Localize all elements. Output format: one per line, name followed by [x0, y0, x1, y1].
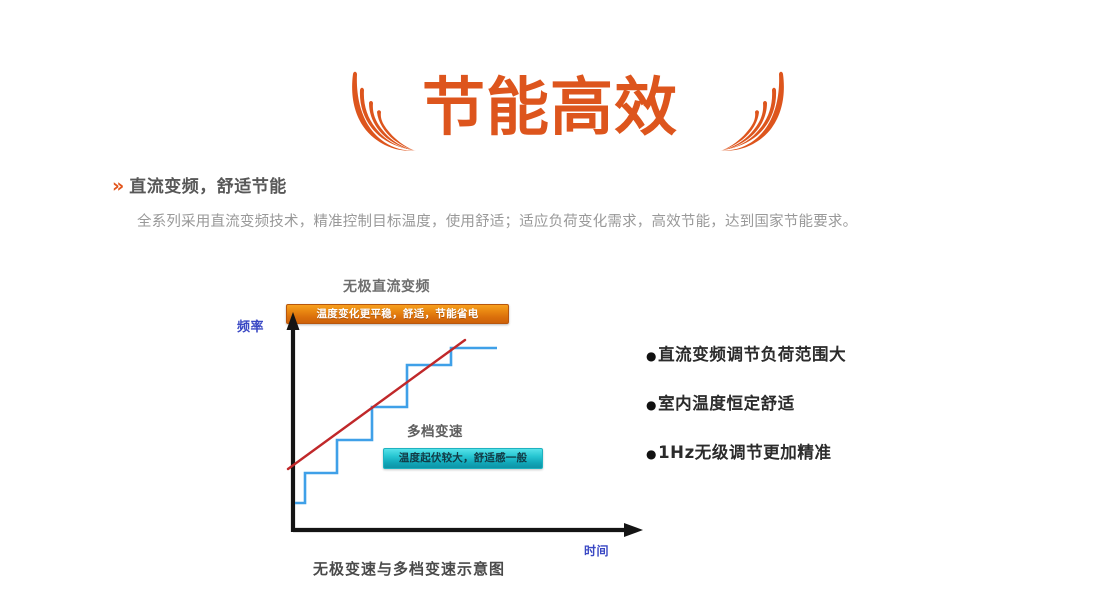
series-stepped-multi-gear: [295, 348, 497, 503]
bullet-icon: ●: [646, 345, 657, 367]
double-chevron-right-icon: »: [112, 176, 122, 197]
list-item: ● 直流变频调节负荷范围大: [646, 344, 986, 367]
bullet-icon: ●: [646, 443, 657, 465]
list-item: ● 室内温度恒定舒适: [646, 393, 986, 416]
x-axis: [293, 523, 643, 537]
section-heading: 直流变频，舒适节能: [129, 177, 287, 198]
feature-label: 室内温度恒定舒适: [658, 393, 795, 415]
bullet-icon: ●: [646, 394, 657, 416]
chart-diagram: 无极直流变频 温度变化更平稳，舒适，节能省电 频率 时间 多档变速 温度起伏较大…: [225, 268, 665, 578]
feature-label: 1Hz无级调节更加精准: [658, 442, 832, 464]
section-heading-row: » 直流变频，舒适节能: [112, 176, 1012, 198]
chart-caption: 无极变速与多档变速示意图: [313, 558, 505, 579]
feature-label: 直流变频调节负荷范围大: [658, 344, 846, 366]
list-item: ● 1Hz无级调节更加精准: [646, 442, 986, 465]
title-banner: 节能高效: [0, 34, 1100, 144]
feature-list: ● 直流变频调节负荷范围大 ● 室内温度恒定舒适 ● 1Hz无级调节更加精准: [646, 344, 986, 491]
y-axis: [287, 312, 300, 532]
chart-series-label-stepped: 多档变速: [407, 420, 463, 440]
feather-swoosh-right-icon: [712, 60, 792, 155]
section-block: » 直流变频，舒适节能 全系列采用直流变频技术，精准控制目标温度，使用舒适；适应…: [112, 176, 1012, 235]
page-title: 节能高效: [0, 72, 1100, 144]
callout-multi-gear-drawback: 温度起伏较大，舒适感一般: [383, 448, 543, 469]
section-body: 全系列采用直流变频技术，精准控制目标温度，使用舒适；适应负荷变化需求，高效节能，…: [137, 209, 997, 235]
